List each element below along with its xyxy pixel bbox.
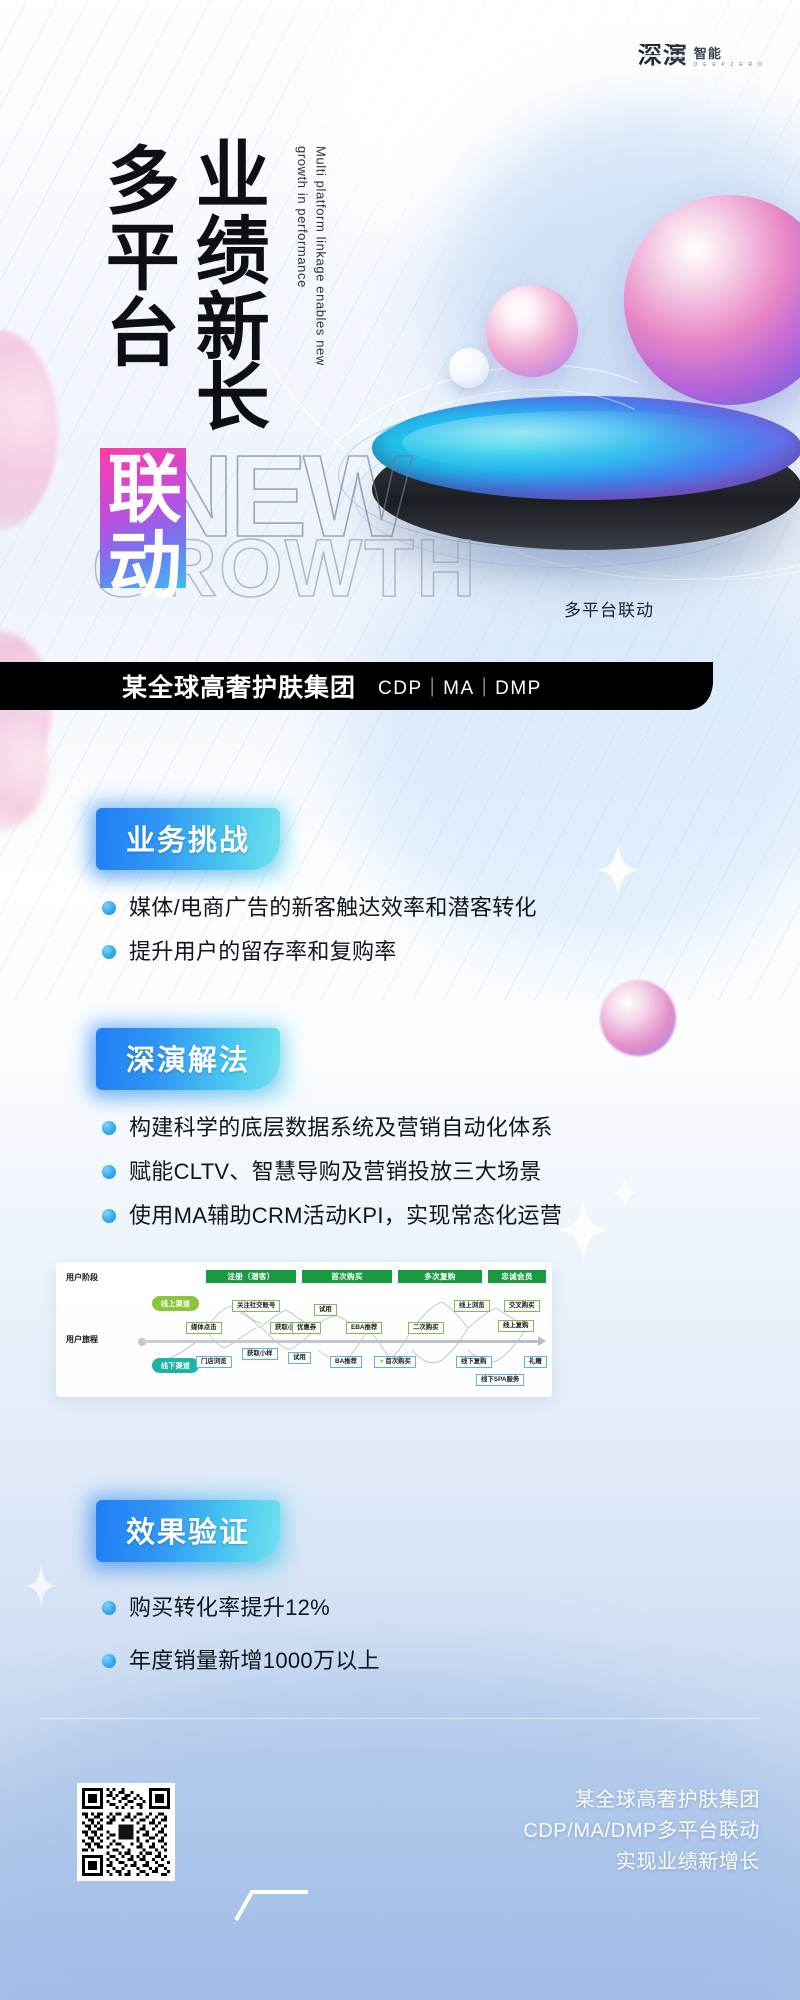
brand-logo[interactable]: 深演 智能 D E E P Z E R O — [638, 44, 764, 68]
section-badge-label: 效果验证 — [126, 1517, 250, 1549]
journey-stage-1: 注册（潜客） — [206, 1270, 296, 1283]
section-badge-challenges: 业务挑战 — [96, 808, 280, 870]
list-item: 构建科学的底层数据系统及营销自动化体系 — [102, 1112, 800, 1143]
list-item-label: 构建科学的底层数据系统及营销自动化体系 — [129, 1112, 553, 1143]
list-item: 年度销量新增1000万以上 — [102, 1645, 800, 1676]
headline-highlight-text: 联动 — [102, 450, 175, 602]
section-badge-label: 深演解法 — [126, 1045, 250, 1077]
journey-node-offline-coupon: 优惠券 — [292, 1322, 321, 1334]
logo-cn-text: 智能 — [694, 47, 764, 60]
challenge-list: 媒体/电商广告的新客触达效率和潜客转化 提升用户的留存率和复购率 — [96, 892, 800, 967]
arrow-decoration-icon — [230, 1890, 310, 1935]
footer-line-2: CDP/MA/DMP多平台联动 — [523, 1816, 760, 1847]
journey-row-label-stage: 用户阶段 — [66, 1272, 98, 1283]
section-badge-label: 业务挑战 — [126, 825, 250, 857]
journey-node-offline: 门店浏览 — [196, 1356, 232, 1368]
hero-tagline: 多平台联动 — [564, 596, 654, 621]
solution-list: 构建科学的底层数据系统及营销自动化体系 赋能CLTV、智慧导购及营销投放三大场景… — [96, 1112, 800, 1232]
bullet-dot-icon — [102, 945, 116, 959]
journey-node-label: 首次购买 — [385, 1359, 411, 1365]
headline-column-1: 多平台 — [100, 142, 173, 370]
list-item: 使用MA辅助CRM活动KPI，实现常态化运营 — [102, 1200, 800, 1231]
journey-node-online: 关注社交账号 — [232, 1300, 280, 1312]
list-item-label: 赋能CLTV、智慧导购及营销投放三大场景 — [129, 1156, 542, 1187]
journey-stage-4: 忠诚会员 — [488, 1270, 546, 1283]
bullet-dot-icon — [102, 1165, 116, 1179]
bullet-dot-icon — [102, 901, 116, 915]
results-list: 购买转化率提升12% 年度销量新增1000万以上 — [96, 1592, 800, 1676]
bullet-dot-icon — [102, 1654, 116, 1668]
journey-node-online: 线上浏览 — [454, 1300, 490, 1312]
list-item: 赋能CLTV、智慧导购及营销投放三大场景 — [102, 1156, 800, 1187]
star-icon: ★ — [379, 1359, 384, 1365]
hero-english-subtitle: Multi platform linkage enables new growt… — [292, 146, 330, 376]
product-tags: CDP｜MA｜DMP — [378, 673, 542, 700]
title-bar-inner: 某全球高奢护肤集团 CDP｜MA｜DMP — [0, 662, 712, 710]
section-badge-solution: 深演解法 — [96, 1028, 280, 1090]
logo-subtext: 智能 D E E P Z E R O — [694, 47, 764, 68]
customer-journey-diagram: 用户阶段 用户旅程 注册（潜客） 首次购买 多次复购 忠诚会员 线上渠道 线下渠… — [56, 1262, 552, 1397]
poster-root: 深演 智能 D E E P Z E R O GROWTH NEW 业绩新 多平台… — [0, 0, 800, 2000]
journey-stage-2: 首次购买 — [302, 1270, 392, 1283]
journey-node-offline: 礼赠 — [524, 1356, 547, 1368]
qr-code-image — [82, 1788, 170, 1876]
footer-line-3: 实现业绩新增长 — [523, 1847, 760, 1878]
bullet-dot-icon — [102, 1209, 116, 1223]
headline-column-2: 业绩新 — [190, 136, 263, 364]
journey-node-online: 交叉购买 — [504, 1300, 540, 1312]
list-item-label: 年度销量新增1000万以上 — [129, 1645, 380, 1676]
journey-channel-offline: 线下渠道 — [152, 1358, 199, 1373]
journey-node-online: 二次购买 — [408, 1322, 444, 1334]
bullet-dot-icon — [102, 1601, 116, 1615]
journey-spine-arrow-icon — [538, 1336, 546, 1346]
list-item-label: 提升用户的留存率和复购率 — [129, 936, 397, 967]
footer-line-1: 某全球高奢护肤集团 — [523, 1785, 760, 1816]
list-item-label: 使用MA辅助CRM活动KPI，实现常态化运营 — [129, 1200, 562, 1231]
journey-row-label-path: 用户旅程 — [66, 1334, 98, 1345]
logo-mark-text: 深演 — [638, 44, 688, 68]
journey-node-offline: 试用 — [288, 1352, 311, 1364]
section-challenges: 业务挑战 媒体/电商广告的新客触达效率和潜客转化 提升用户的留存率和复购率 — [0, 808, 800, 980]
list-item-label: 购买转化率提升12% — [129, 1592, 330, 1623]
title-bar: 某全球高奢护肤集团 CDP｜MA｜DMP — [0, 662, 712, 710]
headline-column-2-tail: 长 — [190, 358, 263, 434]
journey-node-offline: 线下复购 — [456, 1356, 492, 1368]
section-solution: 深演解法 构建科学的底层数据系统及营销自动化体系 赋能CLTV、智慧导购及营销投… — [0, 1028, 800, 1245]
journey-node-offline: 线下SPA服务 — [476, 1374, 524, 1386]
journey-node-online: 试用 — [314, 1304, 337, 1316]
footer-text-block: 某全球高奢护肤集团 CDP/MA/DMP多平台联动 实现业绩新增长 — [523, 1785, 760, 1878]
client-brand-name: 某全球高奢护肤集团 — [122, 668, 356, 704]
journey-node-online: 媒体点击 — [186, 1322, 222, 1334]
section-results: 效果验证 购买转化率提升12% 年度销量新增1000万以上 — [0, 1500, 800, 1689]
list-item: 媒体/电商广告的新客触达效率和潜客转化 — [102, 892, 800, 923]
journey-channel-online: 线上渠道 — [152, 1296, 199, 1311]
journey-node-offline-first-purchase: ★首次购买 — [374, 1356, 416, 1368]
journey-node-offline: 获取小样 — [242, 1348, 278, 1360]
list-item: 购买转化率提升12% — [102, 1592, 800, 1623]
list-item-label: 媒体/电商广告的新客触达效率和潜客转化 — [129, 892, 537, 923]
journey-node-online: EBA推荐 — [346, 1322, 382, 1334]
journey-node-offline: BA推荐 — [330, 1356, 362, 1368]
hero-headline: GROWTH NEW 业绩新 多平台 长 联动 Multi platform l… — [0, 60, 800, 660]
list-item: 提升用户的留存率和复购率 — [102, 936, 800, 967]
qr-code[interactable] — [77, 1783, 175, 1881]
section-badge-results: 效果验证 — [96, 1500, 280, 1562]
footer-divider — [40, 1718, 760, 1719]
journey-stage-3: 多次复购 — [398, 1270, 482, 1283]
bullet-dot-icon — [102, 1121, 116, 1135]
new-outline-text: NEW — [150, 438, 409, 554]
logo-en-text: D E E P Z E R O — [694, 63, 764, 68]
journey-spine — [142, 1340, 542, 1343]
journey-node-online: 线上复购 — [498, 1320, 534, 1332]
